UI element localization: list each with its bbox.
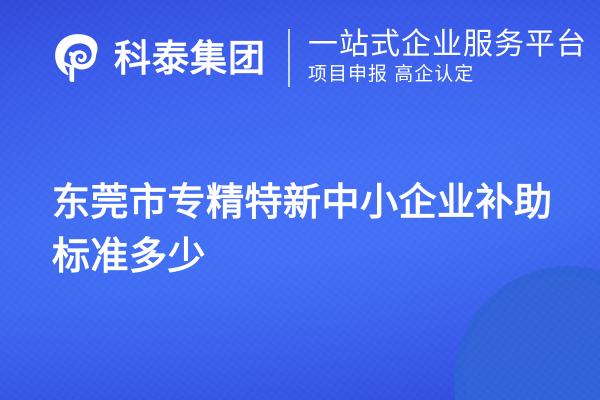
tagline-primary: 一站式企业服务平台 [308, 28, 587, 62]
kotai-circular-logo-icon [52, 32, 104, 84]
brand-name: 科泰集团 [114, 40, 266, 77]
page-title: 东莞市专精特新中小企业补助标准多少 [52, 177, 568, 285]
decorative-circle-pale [464, 276, 600, 400]
decorative-circle-bright [454, 266, 600, 400]
header-divider [288, 29, 290, 87]
promo-banner: 科泰集团 一站式企业服务平台 项目申报 高企认定 东莞市专精特新中小企业补助标准… [0, 0, 600, 400]
tagline-group: 一站式企业服务平台 项目申报 高企认定 [308, 28, 587, 88]
tagline-secondary: 项目申报 高企认定 [308, 63, 587, 88]
brand-header: 科泰集团 一站式企业服务平台 项目申报 高企认定 [52, 25, 587, 91]
